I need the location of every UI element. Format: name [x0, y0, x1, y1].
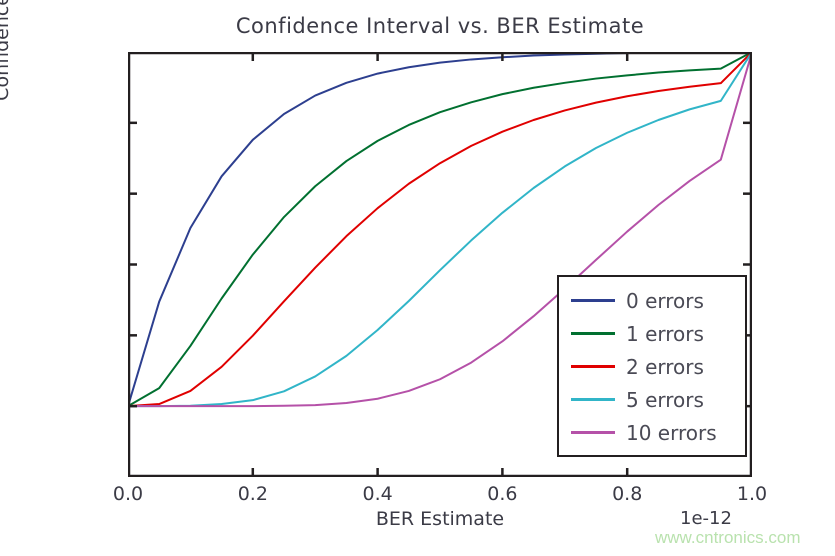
x-tick-label-5: 1.0	[717, 485, 787, 504]
legend-swatch-icon-2	[571, 365, 615, 368]
watermark-text: www.cntronics.com	[655, 528, 800, 548]
x-axis-label: BER Estimate	[128, 508, 752, 530]
legend-swatch-icon-4	[571, 431, 615, 434]
x-tick-label-0: 0.0	[93, 485, 163, 504]
legend-label-0: 0 errors	[626, 289, 704, 313]
x-tick-label-4: 0.8	[592, 485, 662, 504]
x-tick-label-1: 0.2	[218, 485, 288, 504]
legend-item-0[interactable]: 0 errors	[559, 284, 745, 317]
legend-item-3[interactable]: 5 errors	[559, 383, 745, 416]
x-tick-label-3: 0.6	[467, 485, 537, 504]
legend-item-1[interactable]: 1 errors	[559, 317, 745, 350]
legend-label-1: 1 errors	[626, 322, 704, 346]
legend-swatch-icon-0	[571, 299, 615, 302]
figure-canvas: Confidence Interval vs. BER Estimate Con…	[0, 0, 835, 556]
legend-label-3: 5 errors	[626, 388, 704, 412]
legend-swatch-icon-3	[571, 398, 615, 401]
legend-label-4: 10 errors	[626, 421, 717, 445]
legend-item-2[interactable]: 2 errors	[559, 350, 745, 383]
x-tick-label-2: 0.4	[343, 485, 413, 504]
legend-label-2: 2 errors	[626, 355, 704, 379]
legend-swatch-icon-1	[571, 332, 615, 335]
chart-legend[interactable]: 0 errors1 errors2 errors5 errors10 error…	[557, 275, 747, 457]
legend-item-4[interactable]: 10 errors	[559, 416, 745, 449]
x-axis-exponent-label: 1e-12	[680, 508, 732, 529]
